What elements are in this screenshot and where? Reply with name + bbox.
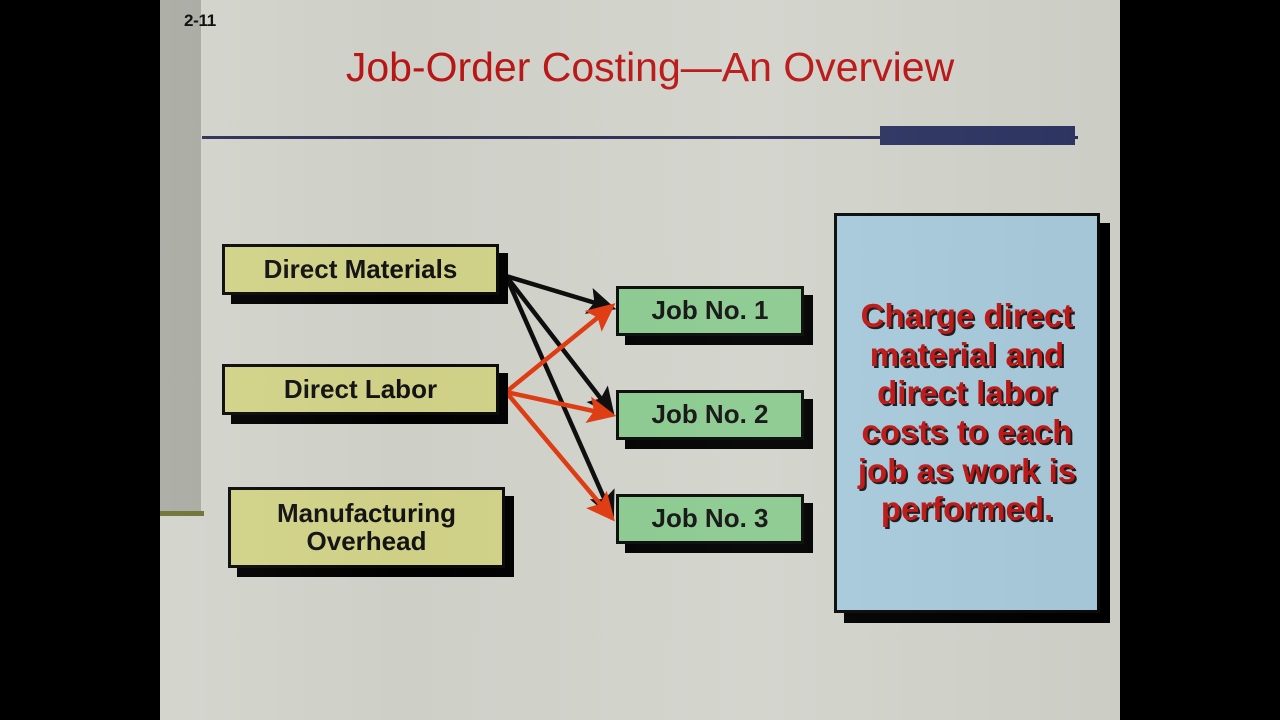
job-box-1: Job No. 1	[616, 286, 804, 336]
callout-box: Charge direct material and direct labor …	[834, 213, 1100, 613]
cost-box-label: Direct Labor	[284, 376, 437, 404]
arrow-labor-to-job-2	[506, 392, 612, 415]
cost-box-direct-materials: Direct Materials	[222, 244, 499, 295]
header-accent-block	[880, 126, 1075, 145]
job-box-label: Job No. 1	[651, 297, 768, 325]
cost-box-direct-labor: Direct Labor	[222, 364, 499, 415]
arrow-materials-to-job-1	[506, 276, 612, 308]
cost-box-manufacturing-overhead: Manufacturing Overhead	[228, 487, 505, 568]
job-box-label: Job No. 3	[651, 505, 768, 533]
job-box-3: Job No. 3	[616, 494, 804, 544]
page-title: Job-Order Costing—An Overview	[220, 44, 1080, 91]
arrow-group-direct-materials	[506, 276, 612, 516]
arrow-materials-to-job-2	[506, 276, 612, 413]
arrow-labor-to-job-1	[506, 306, 612, 392]
slide-viewport: 2-11 Job-Order Costing—An Overview	[0, 0, 1280, 720]
arrow-materials-to-job-3	[506, 276, 612, 516]
presentation-slide: 2-11 Job-Order Costing—An Overview	[160, 0, 1120, 720]
cost-box-label: Manufacturing Overhead	[231, 500, 502, 555]
left-decorative-band	[160, 0, 201, 512]
job-box-label: Job No. 2	[651, 401, 768, 429]
left-band-rule	[160, 511, 204, 516]
cost-box-label: Direct Materials	[264, 256, 458, 284]
arrow-labor-to-job-3	[506, 392, 612, 518]
callout-text: Charge direct material and direct labor …	[837, 297, 1097, 529]
slide-number: 2-11	[184, 11, 216, 31]
job-box-2: Job No. 2	[616, 390, 804, 440]
arrow-group-direct-labor	[506, 306, 612, 518]
